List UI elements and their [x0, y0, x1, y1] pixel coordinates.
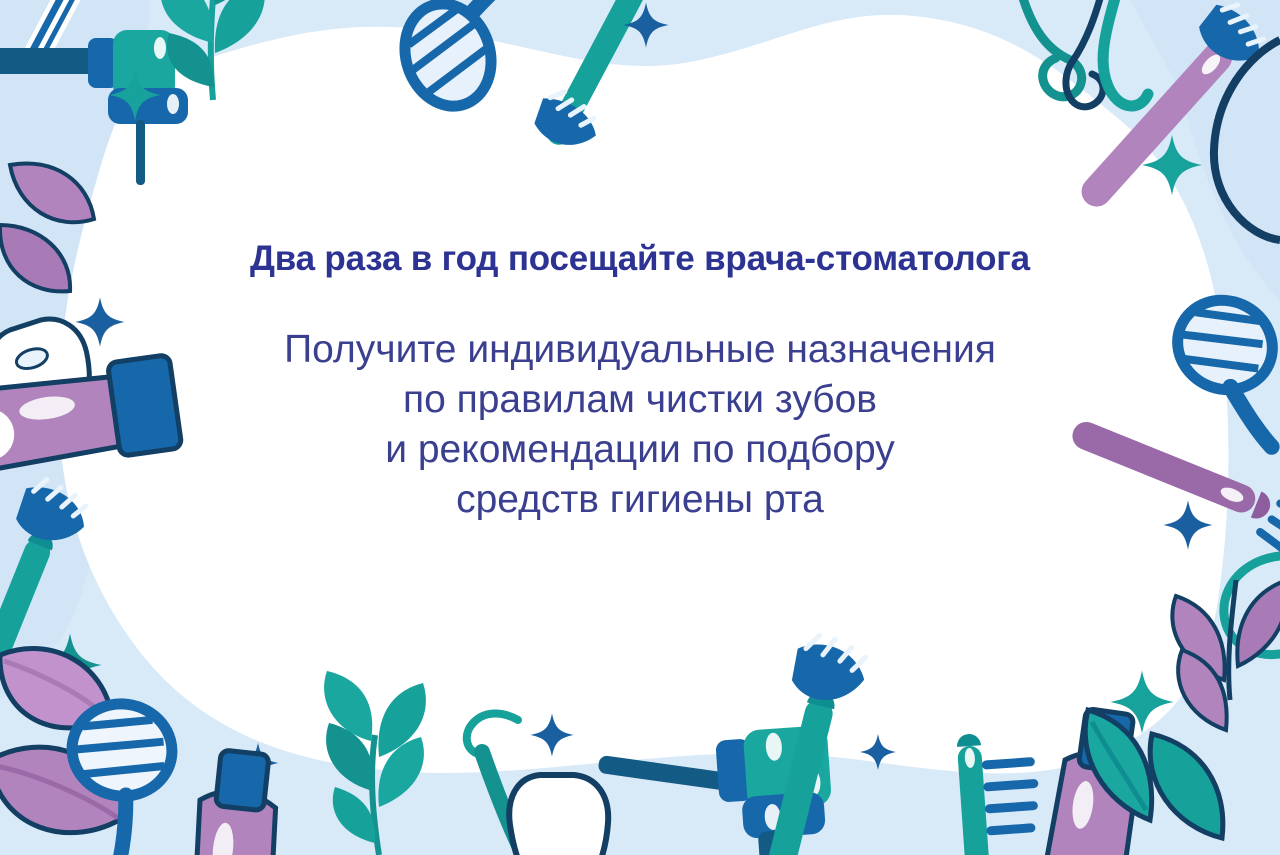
- body-line-1: Получите индивидуальные назначения: [284, 325, 996, 375]
- poster-text-content: Два раза в год посещайте врача-стоматоло…: [0, 0, 1280, 855]
- body-line-4: средств гигиены рта: [284, 475, 996, 525]
- body-line-3: и рекомендации по подбору: [284, 425, 996, 475]
- body-text: Получите индивидуальные назначения по пр…: [284, 325, 996, 525]
- body-line-2: по правилам чистки зубов: [284, 375, 996, 425]
- poster-canvas: Два раза в год посещайте врача-стоматоло…: [0, 0, 1280, 855]
- page-title: Два раза в год посещайте врача-стоматоло…: [250, 238, 1030, 280]
